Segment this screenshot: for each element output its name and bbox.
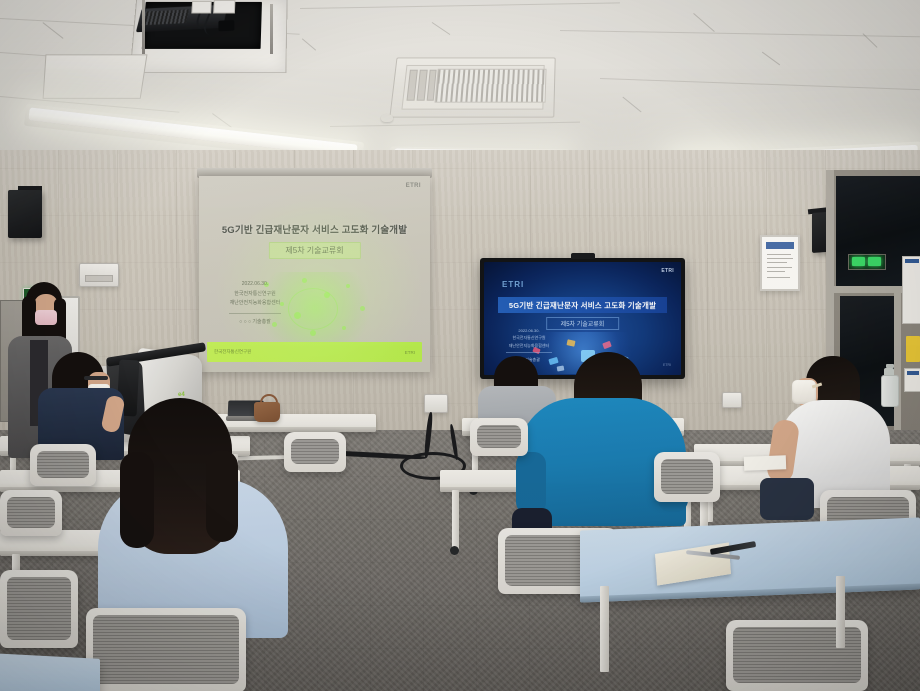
screen-node bbox=[342, 326, 346, 330]
screen-node bbox=[360, 306, 365, 311]
tv-footer: ETRI bbox=[663, 363, 671, 367]
desk-blue-foreground bbox=[580, 517, 920, 602]
screen-node bbox=[310, 330, 316, 336]
chair-left-row3[interactable] bbox=[0, 570, 78, 648]
projector-vent bbox=[141, 9, 188, 25]
brown-leather-bag[interactable] bbox=[254, 402, 280, 422]
exit-sign-glyph-1 bbox=[852, 257, 865, 266]
screen-node bbox=[324, 292, 330, 298]
chair-left-row2[interactable] bbox=[0, 490, 62, 536]
seminar-room-photo: ETRI 5G기반 긴급재난문자 서비스 고도화 기술개발 제5차 기술교류회 … bbox=[0, 0, 920, 691]
screen-node bbox=[302, 278, 307, 283]
ceiling-smoke-sensor bbox=[381, 114, 393, 122]
hatch-label-card-2 bbox=[213, 0, 235, 13]
exit-sign-corridor bbox=[848, 254, 886, 270]
tv-node bbox=[602, 341, 612, 349]
tv-camera-bar bbox=[571, 253, 595, 259]
screen-node bbox=[294, 312, 301, 319]
chair-center-back[interactable] bbox=[470, 418, 528, 456]
chair-mesh bbox=[661, 459, 713, 494]
door-mullion-right bbox=[894, 290, 901, 438]
tv-etri-logo: ETRI bbox=[661, 268, 674, 274]
presenter-face-mask bbox=[35, 310, 57, 325]
tv-slide-title: 5G기반 긴급재난문자 서비스 고도화 기술개발 bbox=[509, 300, 656, 311]
screen-meta-org2: 재난안전지능화융합센터 bbox=[219, 299, 291, 309]
screen-etri-logo: ETRI bbox=[406, 183, 421, 189]
chair-bottom-right[interactable] bbox=[726, 620, 868, 691]
screen-slide-subtitle: 제5차 기술교류회 bbox=[268, 242, 360, 259]
wall-outlet-center[interactable] bbox=[424, 394, 448, 413]
side-notice-header-2 bbox=[907, 371, 919, 375]
notice-header-band bbox=[766, 242, 794, 249]
woman-hair-left-strand bbox=[120, 452, 154, 548]
tv-meta-org2: 재난안전지능화융합센터 bbox=[498, 342, 560, 349]
screen-meta-date: 2022.06.30. bbox=[219, 280, 291, 290]
screen-meta-org1: 한국전자통신연구원 bbox=[219, 290, 291, 300]
exit-sign-glyph-2 bbox=[868, 257, 881, 266]
hand-sanitizer-bottle[interactable] bbox=[881, 375, 899, 407]
tv-meta-date: 2022.06.30. bbox=[498, 327, 560, 334]
screen-slide-title: 5G기반 긴급재난문자 서비스 고도화 기술개발 bbox=[199, 222, 430, 236]
chair-left-mid[interactable] bbox=[284, 432, 346, 472]
screen-footer-bar: 한국전자통신연구원 ETRI bbox=[207, 342, 422, 362]
hatch-label-card bbox=[191, 1, 211, 14]
tv-meta-org1: 한국전자통신연구원 bbox=[498, 334, 560, 341]
screen-meta-presenter: ○ ○ ○ 기술총괄 bbox=[219, 318, 291, 328]
screen-footer-right: ETRI bbox=[405, 350, 415, 355]
ceiling-ac-unit bbox=[389, 57, 555, 117]
wall-control-panel[interactable] bbox=[79, 263, 119, 287]
projection-screen: ETRI 5G기반 긴급재난문자 서비스 고도화 기술개발 제5차 기술교류회 … bbox=[199, 176, 430, 372]
chair-mesh bbox=[7, 577, 71, 640]
ac-grille bbox=[435, 69, 547, 103]
chair-back-left[interactable] bbox=[30, 444, 96, 486]
desk-blue-bottom-left bbox=[0, 653, 100, 691]
screen-footer-left: 한국전자통신연구원 bbox=[214, 349, 251, 355]
hatch-support-rod-left bbox=[142, 0, 145, 54]
corridor-yellow-tag bbox=[906, 336, 920, 362]
blue-desk-leg-right bbox=[836, 576, 845, 648]
tv-node bbox=[566, 339, 575, 347]
blue-desk-leg-left bbox=[600, 586, 609, 672]
wall-notice-poster bbox=[760, 235, 800, 291]
side-notice-header bbox=[905, 259, 919, 263]
screen-meta-divider bbox=[229, 313, 281, 314]
chair-mesh bbox=[7, 497, 55, 528]
desk-leg bbox=[452, 490, 459, 550]
navy-man-glasses bbox=[84, 376, 108, 380]
tv-node bbox=[556, 365, 564, 371]
woman-hair-right-strand bbox=[206, 450, 238, 542]
control-panel-slot bbox=[85, 275, 113, 282]
screen-graphic-ring bbox=[288, 288, 338, 330]
tv-kicker: ETRI bbox=[502, 280, 524, 289]
tv-title-band: 5G기반 긴급재난문자 서비스 고도화 기술개발 bbox=[498, 297, 667, 313]
chair-mesh bbox=[477, 425, 521, 448]
chair-mesh bbox=[37, 451, 89, 478]
screen-meta-block: 2022.06.30. 한국전자통신연구원 재난안전지능화융합센터 ○ ○ ○ … bbox=[219, 280, 291, 327]
chair-center-right[interactable] bbox=[654, 452, 720, 502]
screen-node bbox=[346, 284, 350, 288]
corridor-side-notice-2 bbox=[904, 368, 920, 392]
paper-on-desk[interactable] bbox=[744, 455, 786, 470]
sanitizer-pump[interactable] bbox=[884, 368, 894, 375]
hatch-support-rod-right bbox=[270, 4, 273, 54]
chair-mesh bbox=[93, 615, 239, 684]
hatch-door-panel bbox=[43, 54, 148, 98]
white-shirt-man-trousers bbox=[760, 478, 814, 520]
desk-caster bbox=[450, 546, 459, 555]
chair-mesh bbox=[291, 439, 339, 464]
wall-speaker-left bbox=[8, 190, 42, 238]
teal-man-sleeve-left bbox=[516, 452, 546, 514]
tv-meta-divider bbox=[506, 352, 552, 353]
corridor-side-notice bbox=[902, 256, 920, 324]
wall-outlet-right[interactable] bbox=[722, 392, 742, 408]
projector-ceiling-hatch bbox=[130, 0, 288, 73]
chair-foreground-woman[interactable] bbox=[86, 608, 246, 691]
